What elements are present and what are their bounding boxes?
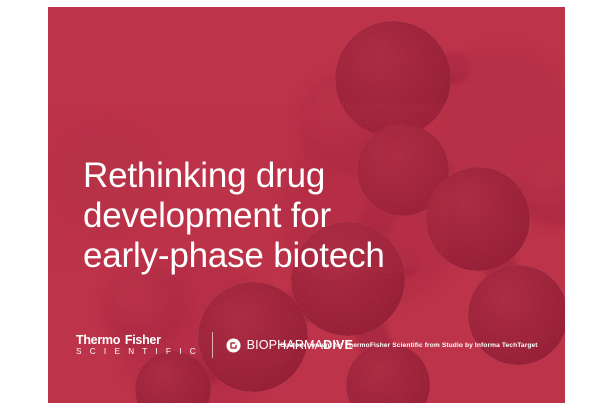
biopharma-dive-icon: [226, 338, 241, 353]
sponsor-caption: Custom content for ThermoFisher Scientif…: [280, 343, 538, 350]
thermo-fisher-logo[interactable]: Thermo Fisher S C I E N T I F I C: [76, 334, 212, 357]
thermo-fisher-name-part2: Fisher: [125, 333, 161, 347]
thermo-fisher-tagline: S C I E N T I F I C: [76, 348, 199, 356]
headline-line-1: Rethinking drug: [83, 156, 503, 196]
headline-line-3: early-phase biotech: [83, 236, 503, 276]
cover-card: Rethinking drug development for early-ph…: [48, 7, 565, 403]
cover-page: Rethinking drug development for early-ph…: [0, 0, 615, 410]
page-title: Rethinking drug development for early-ph…: [83, 156, 503, 276]
headline-line-2: development for: [83, 196, 503, 236]
thermo-fisher-wordmark: Thermo Fisher: [76, 334, 199, 347]
thermo-fisher-name-part1: Thermo: [76, 333, 120, 347]
